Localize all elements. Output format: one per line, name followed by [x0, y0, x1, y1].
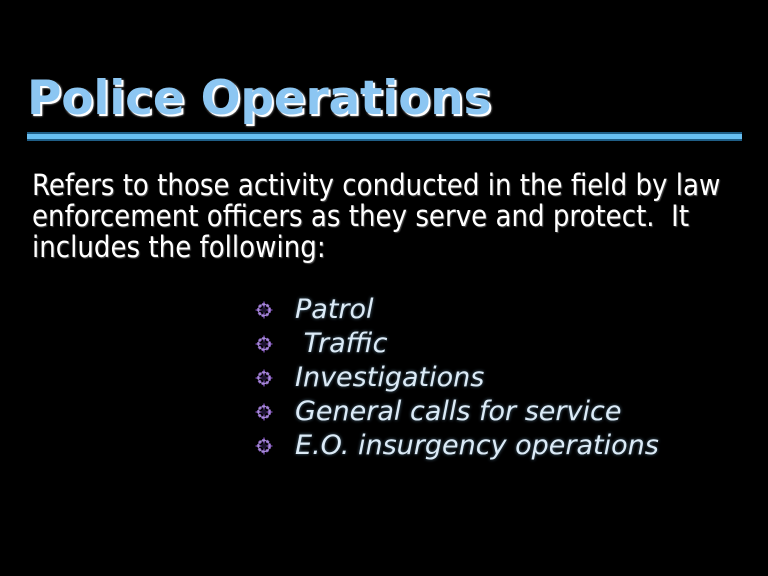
flower-ring-bullet-icon	[255, 369, 273, 387]
presentation-slide: Police Operations Refers to those activi…	[0, 0, 768, 576]
page-title: Police Operations	[27, 72, 743, 126]
flower-ring-bullet-icon	[255, 301, 273, 319]
bullet-label: Patrol	[295, 295, 374, 325]
list-item: Investigations	[255, 361, 659, 395]
flower-ring-bullet-icon	[255, 335, 273, 353]
bullet-label: Traffic	[295, 329, 387, 359]
bullet-label: Investigations	[295, 363, 484, 393]
bullet-label: E.O. insurgency operations	[295, 431, 659, 461]
bullet-list: Patrol Traffic	[255, 293, 659, 463]
flower-ring-bullet-icon	[255, 403, 273, 421]
list-item: E.O. insurgency operations	[255, 429, 659, 463]
flower-ring-bullet-icon	[255, 437, 273, 455]
list-item: Traffic	[255, 327, 659, 361]
body-paragraph: Refers to those activity conducted in th…	[32, 170, 744, 263]
list-item: Patrol	[255, 293, 659, 327]
bullet-label: General calls for service	[295, 397, 621, 427]
title-block: Police Operations	[27, 72, 743, 141]
title-underline-rule	[27, 132, 742, 141]
list-item: General calls for service	[255, 395, 659, 429]
